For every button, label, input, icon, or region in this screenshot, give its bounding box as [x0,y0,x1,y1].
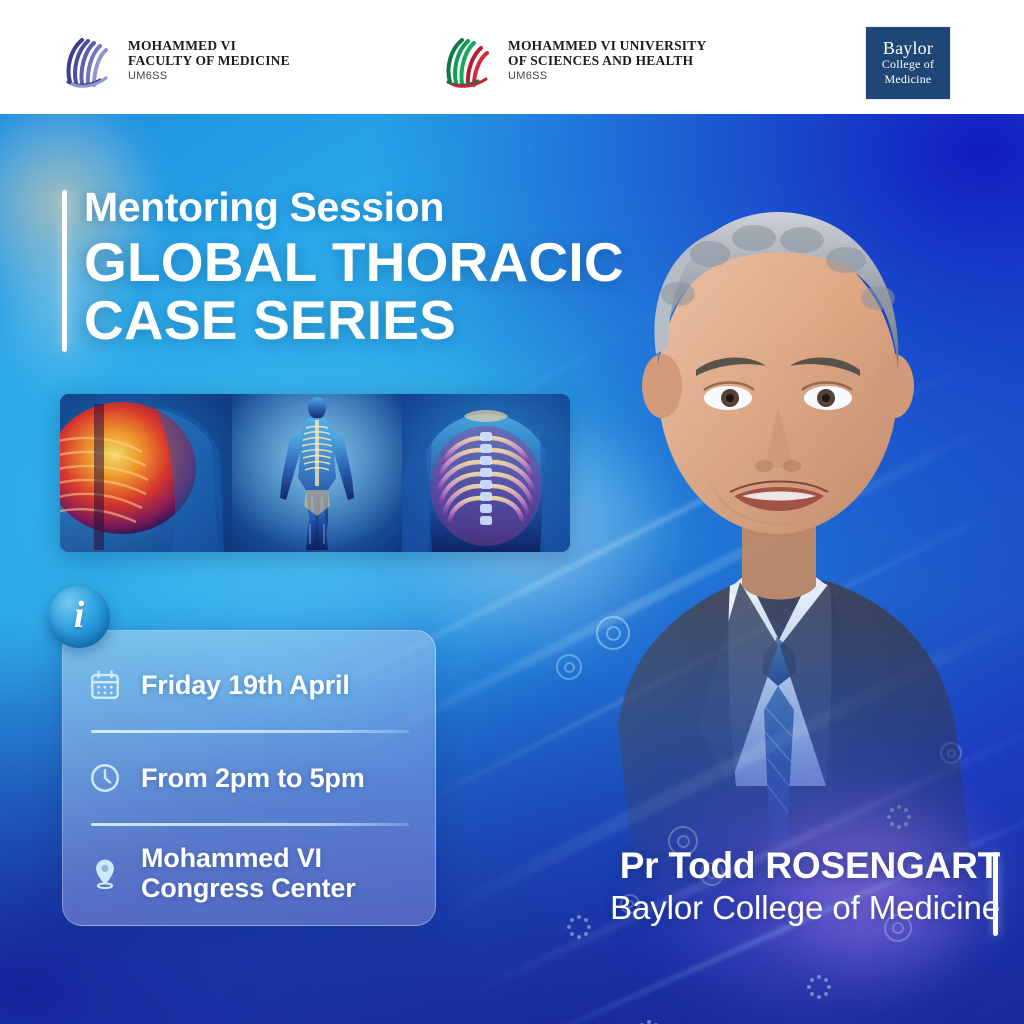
title-accent-bar [62,190,67,352]
title-headline: GLOBAL THORACIC CASE SERIES [84,233,724,350]
logo-baylor-college-of-medicine: Baylor College of Medicine [866,27,950,99]
baylor-line2: College of [882,57,934,72]
location-pin-icon [85,856,125,890]
logo-subtitle: UM6SS [508,70,706,82]
logo-um6ss-faculty-of-medicine: MOHAMMED VI FACULTY OF MEDICINE UM6SS [60,32,290,88]
decor-flower-icon [886,804,912,830]
event-detail-row-venue: Mohammed VI Congress Center [85,843,413,903]
event-date-text: Friday 19th April [141,670,350,700]
info-badge-icon: i [48,586,110,648]
decor-ring-icon [556,654,582,680]
poster-root: MOHAMMED VI FACULTY OF MEDICINE UM6SS [0,0,1024,1024]
event-detail-row-date: Friday 19th April [85,657,413,713]
speaker-credit: Pr Todd ROSENGART Baylor College of Medi… [500,846,1000,927]
event-venue-text: Mohammed VI Congress Center [141,843,356,903]
um6ss-plume-icon [440,32,498,88]
logo-bar: MOHAMMED VI FACULTY OF MEDICINE UM6SS [0,0,1024,114]
logo-text-group: MOHAMMED VI UNIVERSITY OF SCIENCES AND H… [508,38,706,83]
um6ss-plume-icon [60,32,118,88]
headline-line-1: GLOBAL THORACIC [84,233,724,291]
logo-line1: MOHAMMED VI [128,38,290,53]
baylor-line1: Baylor [883,39,933,57]
thermal-thoracic-back-scan [60,394,232,552]
logo-line2: OF SCIENCES AND HEALTH [508,53,706,68]
speaker-name: Pr Todd ROSENGART [500,846,1000,887]
decor-flower-icon [806,974,832,1000]
info-divider [91,730,409,733]
speaker-affiliation: Baylor College of Medicine [500,889,1000,927]
logo-subtitle: UM6SS [128,70,290,82]
info-divider [91,823,409,826]
logo-line1: MOHAMMED VI UNIVERSITY [508,38,706,53]
event-details-card: Friday 19th April From 2pm to 5pm [62,630,436,926]
calendar-icon [85,668,125,702]
speaker-accent-bar [993,852,998,936]
logo-um6ss-university: MOHAMMED VI UNIVERSITY OF SCIENCES AND H… [440,32,706,88]
logo-text-group: MOHAMMED VI FACULTY OF MEDICINE UM6SS [128,38,290,83]
clock-icon [85,761,125,795]
logo-line2: FACULTY OF MEDICINE [128,53,290,68]
decor-ring-icon [596,616,630,650]
baylor-line3: Medicine [885,72,932,87]
event-time-text: From 2pm to 5pm [141,763,365,793]
event-detail-row-time: From 2pm to 5pm [85,750,413,806]
title-kicker: Mentoring Session [84,186,724,229]
rib-cage-front-scan [402,394,570,552]
decor-ring-icon [940,742,962,764]
full-body-skeleton-scan [232,394,402,552]
title-block: Mentoring Session GLOBAL THORACIC CASE S… [84,186,724,349]
thoracic-image-strip [60,394,570,552]
event-venue-line-1: Mohammed VI [141,843,322,873]
headline-line-2: CASE SERIES [84,291,724,349]
event-venue-line-2: Congress Center [141,873,356,903]
decor-flower-icon [636,1019,662,1024]
info-badge-glyph: i [74,596,85,634]
